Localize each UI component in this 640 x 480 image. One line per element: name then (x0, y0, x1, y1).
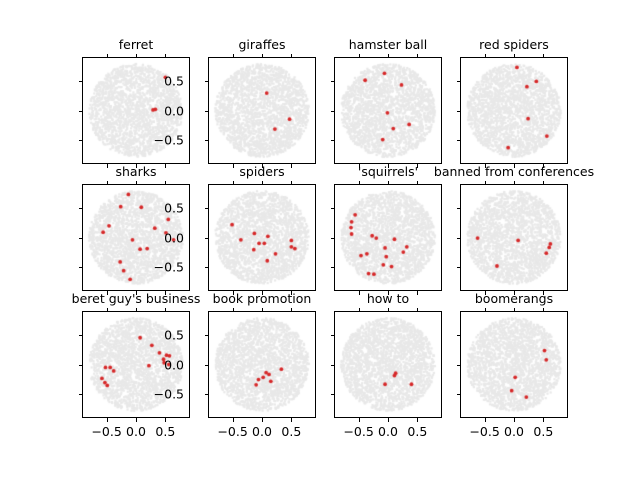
subplot-title: 'squirrels' (358, 165, 418, 179)
x-tick-label: 0.5 (281, 424, 301, 439)
subplot-3: red spiders (460, 57, 568, 164)
x-tick-label: 0.0 (126, 424, 146, 439)
axes-frame (208, 311, 316, 418)
axes-frame (334, 311, 442, 418)
x-tick-label: −0.5 (217, 424, 247, 439)
x-tick (388, 418, 389, 422)
subplot-title: giraffes (238, 38, 285, 52)
axes-frame (208, 57, 316, 164)
x-tick (165, 164, 166, 168)
subplot-title: boomerangs (475, 292, 553, 306)
axes-frame (82, 184, 190, 291)
x-tick (136, 418, 137, 422)
axes-frame (460, 311, 568, 418)
subplot-6: 'squirrels' (334, 184, 442, 291)
axes-frame (460, 57, 568, 164)
subplot-7: banned from conferences (460, 184, 568, 291)
subplot-title: banned from conferences (434, 165, 594, 179)
x-tick-label: −0.5 (91, 424, 121, 439)
subplot-title: sharks (116, 165, 157, 179)
x-tick (359, 291, 360, 295)
x-tick (107, 418, 108, 422)
x-tick (233, 418, 234, 422)
subplot-title: hamster ball (349, 38, 428, 52)
subplot-5: spiders (208, 184, 316, 291)
axes-frame (460, 184, 568, 291)
x-tick (514, 418, 515, 422)
x-tick-label: 0.5 (155, 424, 175, 439)
x-tick (485, 418, 486, 422)
subplot-9: −0.50.00.5book promotion (208, 311, 316, 418)
x-tick (291, 418, 292, 422)
subplot-title: book promotion (213, 292, 312, 306)
subplot-8: −0.50.00.5−0.50.00.5beret guy's business (82, 311, 190, 418)
x-tick-label: 0.0 (378, 424, 398, 439)
subplot-title: red spiders (479, 38, 549, 52)
axes-frame (208, 184, 316, 291)
subplot-2: hamster ball (334, 57, 442, 164)
subplot-1: giraffes (208, 57, 316, 164)
subplot-title: how to (367, 292, 409, 306)
x-tick-label: 0.0 (252, 424, 272, 439)
axes-frame (82, 311, 190, 418)
x-tick (262, 418, 263, 422)
x-tick (233, 164, 234, 168)
subplot-10: −0.50.00.5how to (334, 311, 442, 418)
subplot-0: −0.50.00.5ferret (82, 57, 190, 164)
axes-frame (334, 57, 442, 164)
x-tick-label: 0.5 (533, 424, 553, 439)
x-tick-label: 0.5 (407, 424, 427, 439)
x-tick-label: −0.5 (469, 424, 499, 439)
x-tick (543, 418, 544, 422)
x-tick-label: 0.0 (504, 424, 524, 439)
x-tick (291, 164, 292, 168)
x-tick (417, 291, 418, 295)
x-tick (165, 418, 166, 422)
x-tick (359, 418, 360, 422)
x-tick (417, 418, 418, 422)
axes-frame (334, 184, 442, 291)
x-tick (107, 164, 108, 168)
matplotlib-figure: −0.50.00.5ferretgiraffeshamster ballred … (0, 0, 640, 480)
subplot-4: −0.50.00.5sharks (82, 184, 190, 291)
subplot-11: −0.50.00.5boomerangs (460, 311, 568, 418)
subplot-title: beret guy's business (72, 292, 201, 306)
subplot-title: ferret (119, 38, 153, 52)
axes-frame (82, 57, 190, 164)
x-tick-label: −0.5 (343, 424, 373, 439)
subplot-title: spiders (239, 165, 284, 179)
